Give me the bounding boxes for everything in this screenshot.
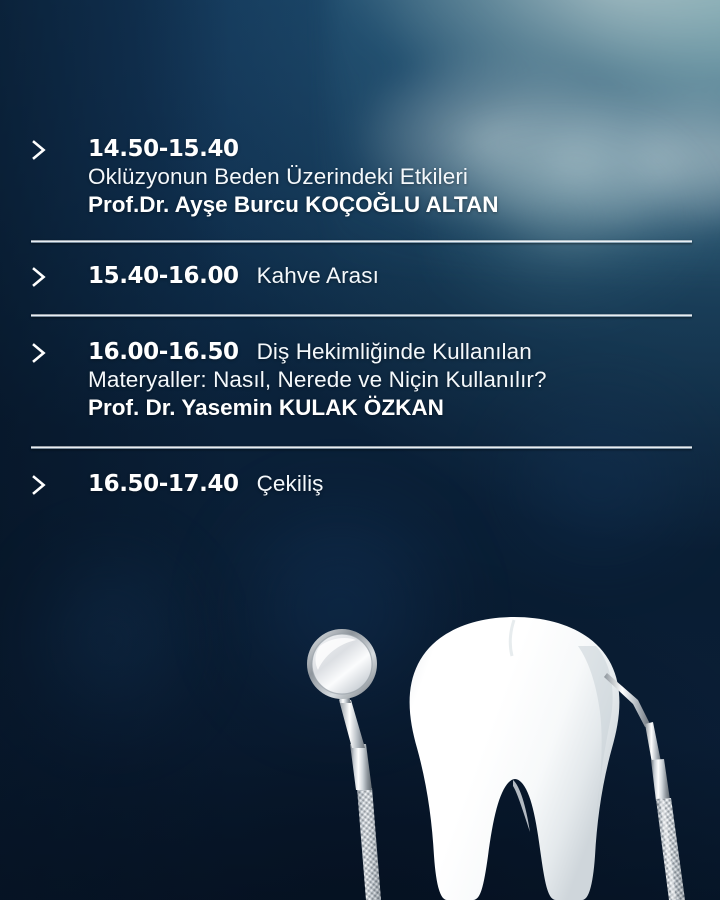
spacer: [0, 218, 720, 240]
spacer: [0, 289, 720, 314]
entry-speaker: Prof.Dr. Ayşe Burcu KOÇOĞLU ALTAN: [88, 192, 498, 217]
entry-title: Çekiliş: [257, 471, 324, 496]
divider: [31, 240, 692, 243]
spacer: [0, 449, 720, 471]
chevron-right-icon: [31, 342, 49, 364]
chevron-right-icon: [31, 139, 49, 161]
schedule-entry: 16.50-17.40 Çekiliş: [0, 471, 720, 497]
entry-title: Diş Hekimliğinde Kullanılan: [257, 339, 532, 364]
divider: [31, 446, 692, 449]
chevron-right-icon: [31, 266, 49, 288]
spacer: [0, 317, 720, 339]
divider: [31, 314, 692, 317]
entry-speaker: Prof. Dr. Yasemin KULAK ÖZKAN: [88, 395, 444, 420]
spacer: [0, 243, 720, 263]
entry-time: 15.40-16.00: [88, 263, 239, 289]
chevron-right-icon: [31, 474, 49, 496]
entry-time: 16.50-17.40: [88, 471, 239, 497]
entry-time: 14.50-15.40: [88, 136, 239, 162]
schedule-entry: 16.00-16.50 Diş Hekimliğinde Kullanılan …: [0, 339, 720, 421]
dental-event-schedule-poster: 14.50-15.40 Oklüzyonun Beden Üzerindeki …: [0, 0, 720, 900]
entry-time: 16.00-16.50: [88, 339, 239, 365]
entry-title: Oklüzyonun Beden Üzerindeki Etkileri: [88, 164, 468, 189]
schedule-list: 14.50-15.40 Oklüzyonun Beden Üzerindeki …: [0, 136, 720, 497]
schedule-entry: 15.40-16.00 Kahve Arası: [0, 263, 720, 289]
schedule-entry: 14.50-15.40 Oklüzyonun Beden Üzerindeki …: [0, 136, 720, 218]
spacer: [0, 421, 720, 446]
entry-title: Kahve Arası: [257, 263, 379, 288]
entry-title-line2: Materyaller: Nasıl, Nerede ve Niçin Kull…: [88, 367, 547, 392]
